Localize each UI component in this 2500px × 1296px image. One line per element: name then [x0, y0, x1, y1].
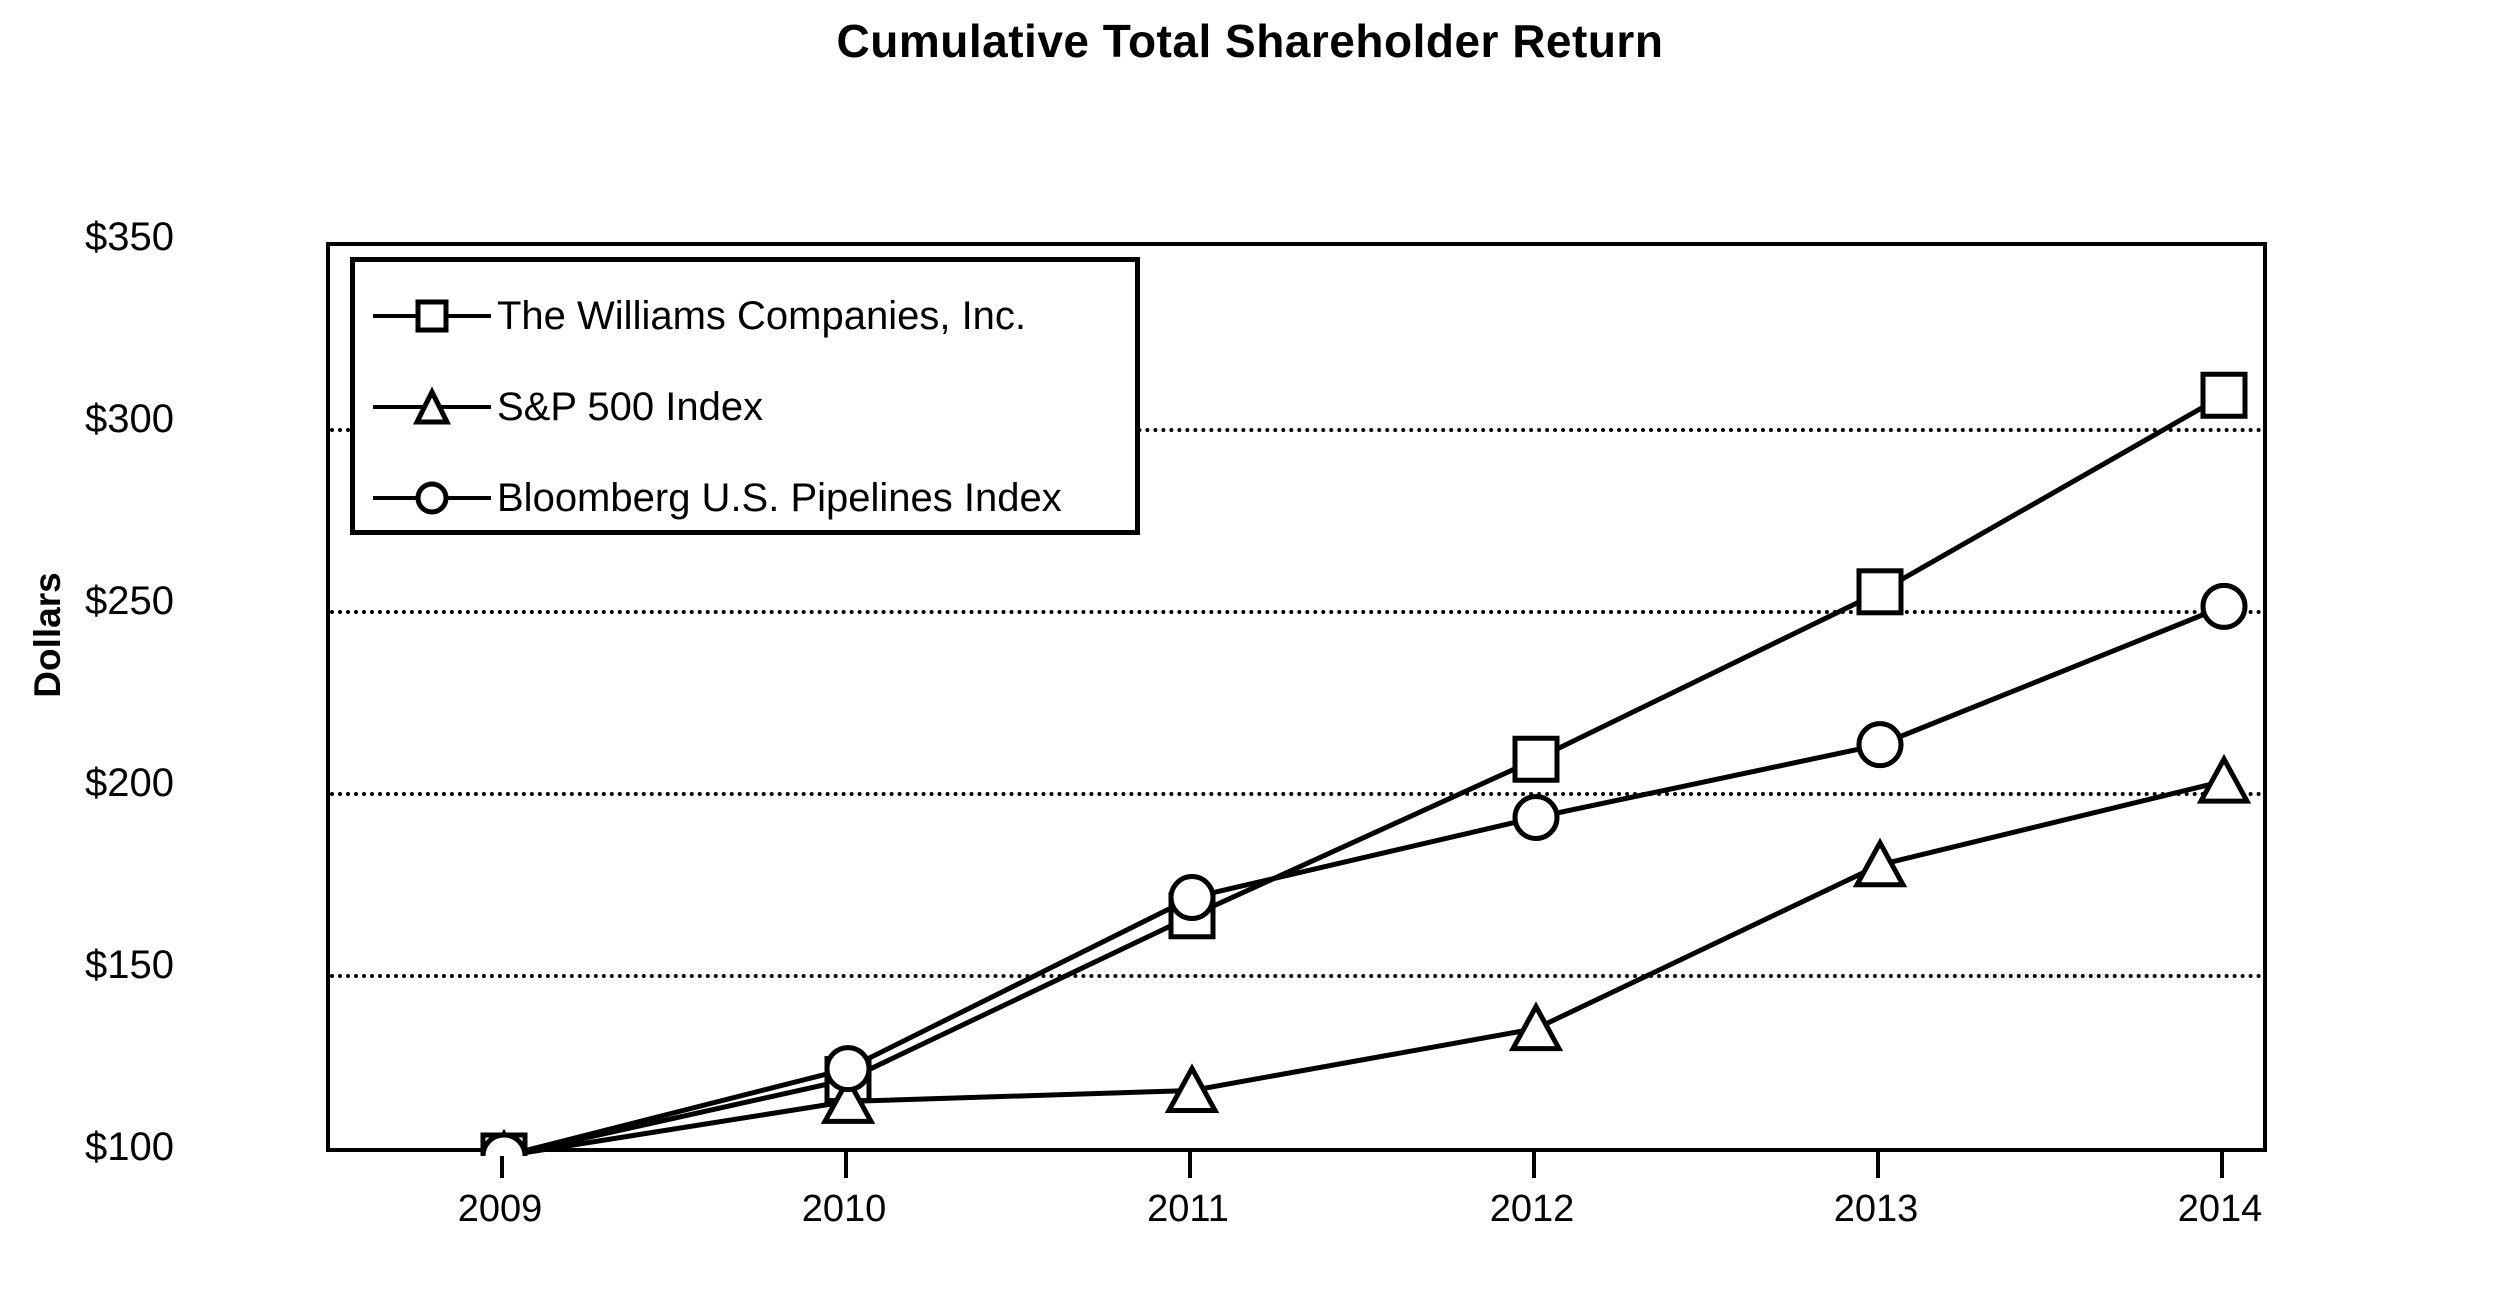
y-tick-label: $200	[0, 761, 174, 806]
chart-title: Cumulative Total Shareholder Return	[0, 14, 2500, 68]
square-data-marker	[2203, 374, 2245, 416]
y-axis-title: Dollars	[27, 525, 69, 745]
chart-page: Cumulative Total Shareholder Return Doll…	[0, 0, 2500, 1296]
square-data-marker	[1859, 571, 1901, 613]
triangle-data-marker	[1513, 1007, 1559, 1049]
y-tick-label: $350	[0, 215, 174, 260]
triangle-data-marker	[1857, 843, 1903, 885]
legend-label-sp500: S&P 500 Index	[497, 385, 763, 430]
x-tick-label: 2012	[1432, 1188, 1632, 1231]
legend-label-bloomberg: Bloomberg U.S. Pipelines Index	[497, 476, 1062, 521]
legend-label-williams: The Williams Companies, Inc.	[497, 294, 1026, 339]
circle-data-marker	[1859, 724, 1901, 766]
legend-item-sp500[interactable]: S&P 500 Index	[355, 377, 1135, 437]
triangle-marker-icon	[373, 384, 491, 430]
y-tick-label: $250	[0, 579, 174, 624]
legend-item-bloomberg[interactable]: Bloomberg U.S. Pipelines Index	[355, 468, 1135, 528]
x-tick-label: 2009	[400, 1188, 600, 1231]
x-tick-label: 2014	[2120, 1188, 2320, 1231]
circle-data-marker	[2203, 585, 2245, 627]
circle-data-marker	[483, 1135, 525, 1156]
x-tick-label: 2013	[1776, 1188, 1976, 1231]
x-tick-label: 2011	[1088, 1188, 1288, 1231]
circle-data-marker	[1171, 877, 1213, 919]
y-tick-label: $150	[0, 943, 174, 988]
circle-data-marker	[1515, 796, 1557, 838]
legend-item-williams[interactable]: The Williams Companies, Inc.	[355, 286, 1135, 346]
y-tick-label: $100	[0, 1125, 174, 1170]
legend: The Williams Companies, Inc. S&P 500 Ind…	[350, 257, 1140, 535]
series-line	[504, 606, 2224, 1156]
series-circle	[483, 585, 2245, 1156]
square-marker-icon	[373, 293, 491, 339]
x-tick-label: 2010	[744, 1188, 944, 1231]
y-tick-label: $300	[0, 397, 174, 442]
circle-marker-icon	[373, 475, 491, 521]
triangle-data-marker	[2201, 759, 2247, 801]
square-data-marker	[1515, 738, 1557, 780]
circle-data-marker	[827, 1048, 869, 1090]
